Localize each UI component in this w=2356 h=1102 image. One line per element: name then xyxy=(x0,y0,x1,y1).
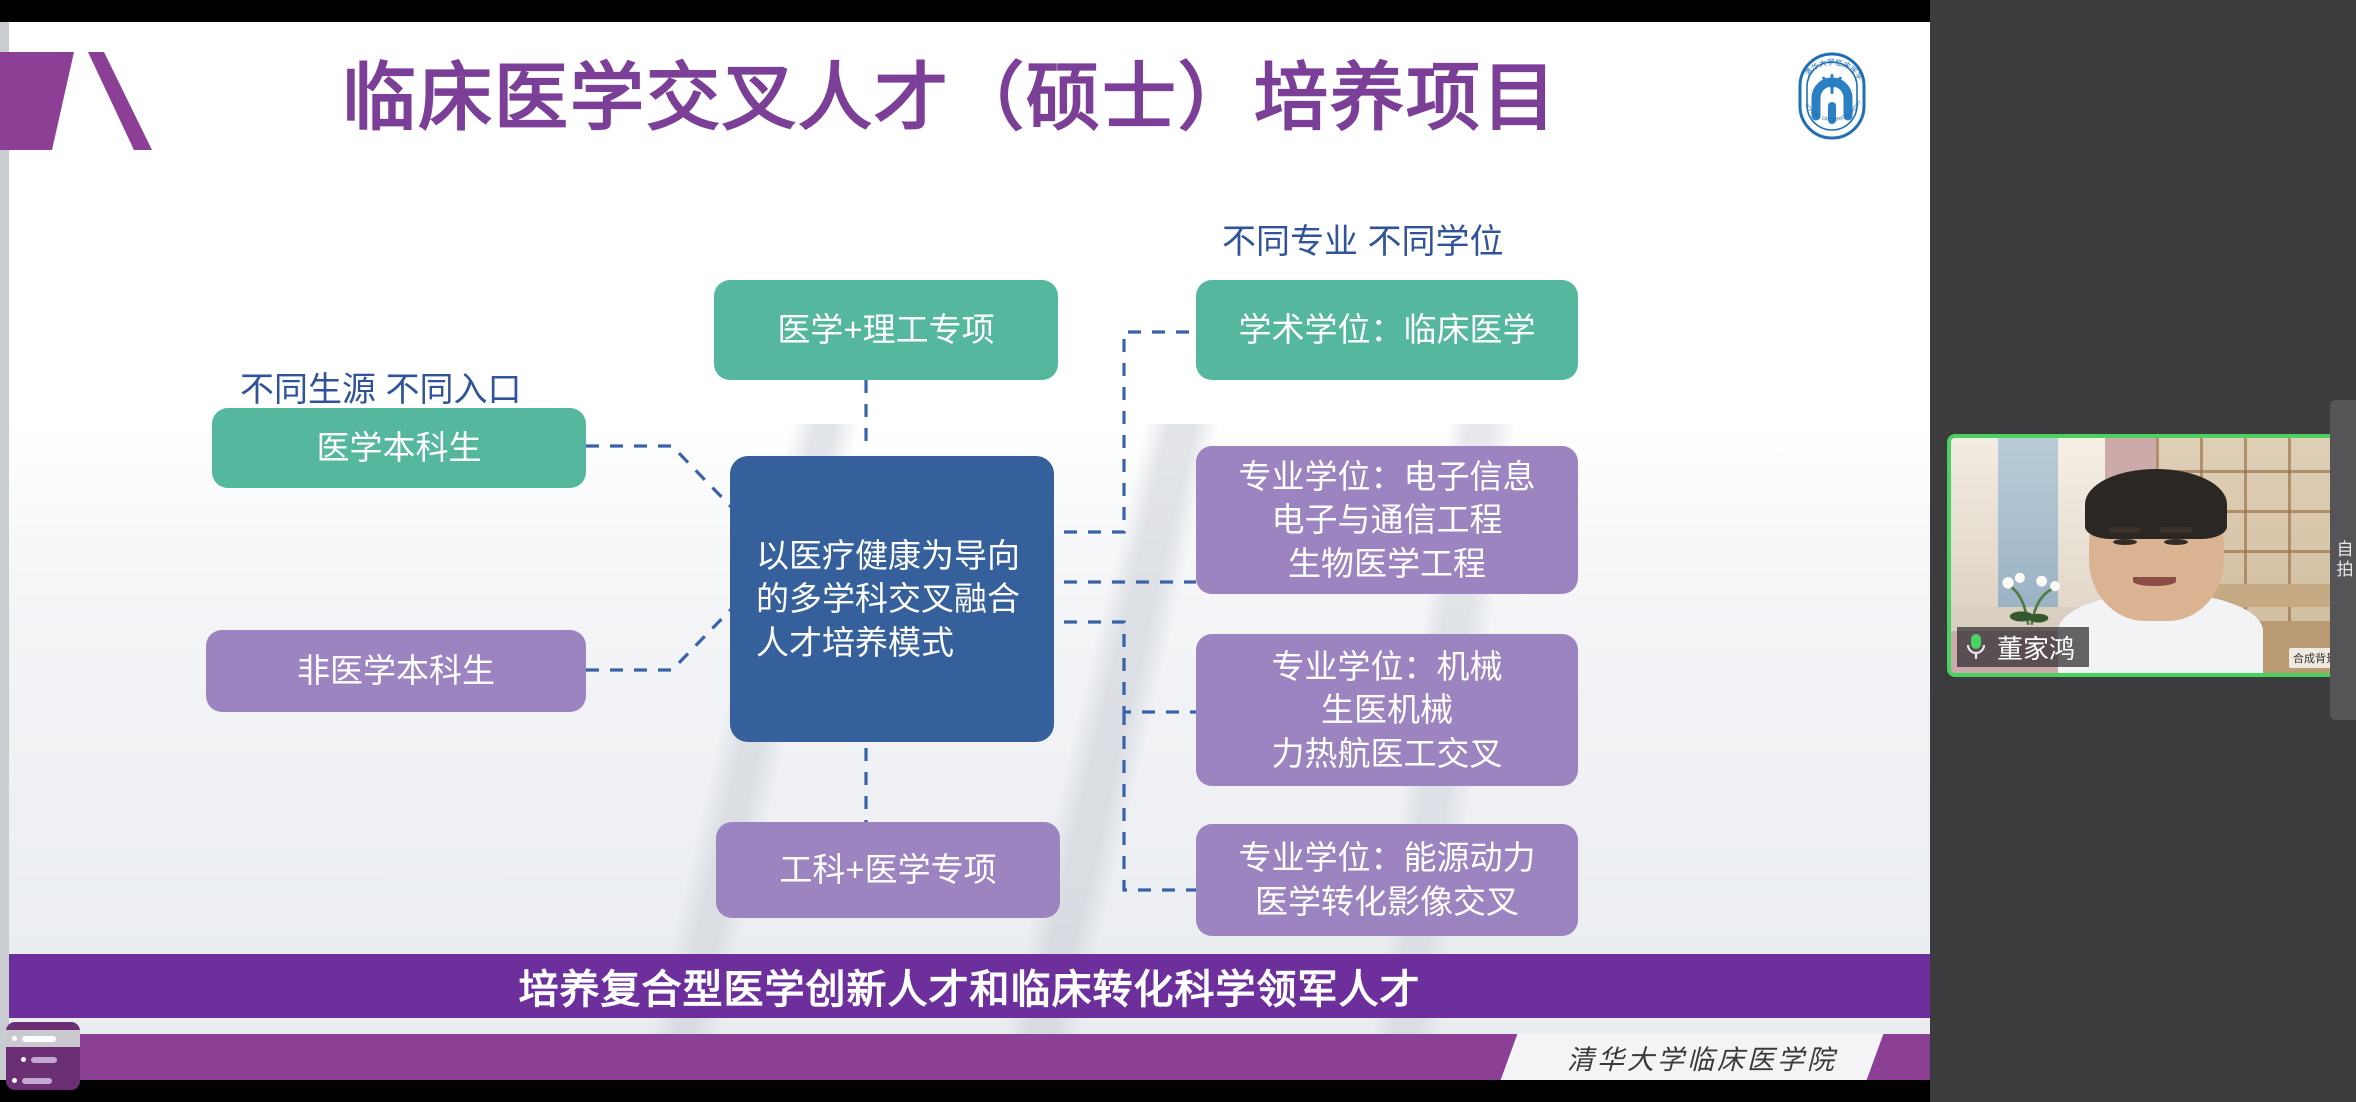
outline-bullet-icon xyxy=(12,1078,17,1083)
caption-left: 不同生源 不同入口 xyxy=(240,362,521,411)
screen-root: 临床医学交叉人才（硕士）培养项目 xyxy=(0,0,2356,1102)
node-source-medical[interactable]: 医学本科生 xyxy=(212,408,586,488)
person-eyebrow-left xyxy=(2109,527,2141,533)
outline-row[interactable] xyxy=(12,1072,74,1089)
outline-row-text xyxy=(31,1057,57,1063)
person-mouth xyxy=(2133,577,2176,586)
outline-row[interactable] xyxy=(21,1051,74,1068)
participant-video-tile[interactable]: 董家鸿 合成背景 xyxy=(1947,434,2350,677)
person-eyebrow-right xyxy=(2160,527,2192,533)
outline-row-text xyxy=(22,1036,56,1042)
side-panel-label: 自拍 xyxy=(2331,540,2356,580)
node-degree-mechanical[interactable]: 专业学位：机械 生医机械 力热航医工交叉 xyxy=(1196,634,1578,786)
node-track-engineering-plus-medical[interactable]: 工科+医学专项 xyxy=(716,822,1060,918)
microphone-icon xyxy=(1965,632,1987,662)
person-eye-left xyxy=(2113,539,2137,545)
side-panel-collapsed-strip[interactable]: 自拍 xyxy=(2330,400,2356,720)
shared-screen-region[interactable]: 临床医学交叉人才（硕士）培养项目 xyxy=(0,0,1930,1102)
node-center-model[interactable]: 以医疗健康为导向的多学科交叉融合人才培养模式 xyxy=(730,456,1054,742)
orchid-plant-icon xyxy=(1998,556,2065,627)
outline-bullet-icon xyxy=(21,1057,26,1062)
curtain-left xyxy=(1951,438,1998,621)
slide-outline-popup[interactable] xyxy=(6,1022,80,1090)
node-degree-electronic-information[interactable]: 专业学位：电子信息 电子与通信工程 生物医学工程 xyxy=(1196,446,1578,594)
node-degree-energy[interactable]: 专业学位：能源动力 医学转化影像交叉 xyxy=(1196,824,1578,936)
outline-row-text xyxy=(22,1078,52,1084)
outline-bullet-icon xyxy=(12,1036,17,1041)
node-degree-academic[interactable]: 学术学位：临床医学 xyxy=(1196,280,1578,380)
presentation-slide: 临床医学交叉人才（硕士）培养项目 xyxy=(0,22,1930,1080)
node-track-medical-plus-engineering[interactable]: 医学+理工专项 xyxy=(714,280,1058,380)
caption-right: 不同专业 不同学位 xyxy=(1222,214,1503,263)
participant-name: 董家鸿 xyxy=(1997,629,2075,666)
person-hair xyxy=(2085,469,2227,540)
outline-row-active[interactable] xyxy=(6,1030,80,1047)
node-source-nonmedical[interactable]: 非医学本科生 xyxy=(206,630,586,712)
participant-name-chip: 董家鸿 xyxy=(1957,627,2089,667)
